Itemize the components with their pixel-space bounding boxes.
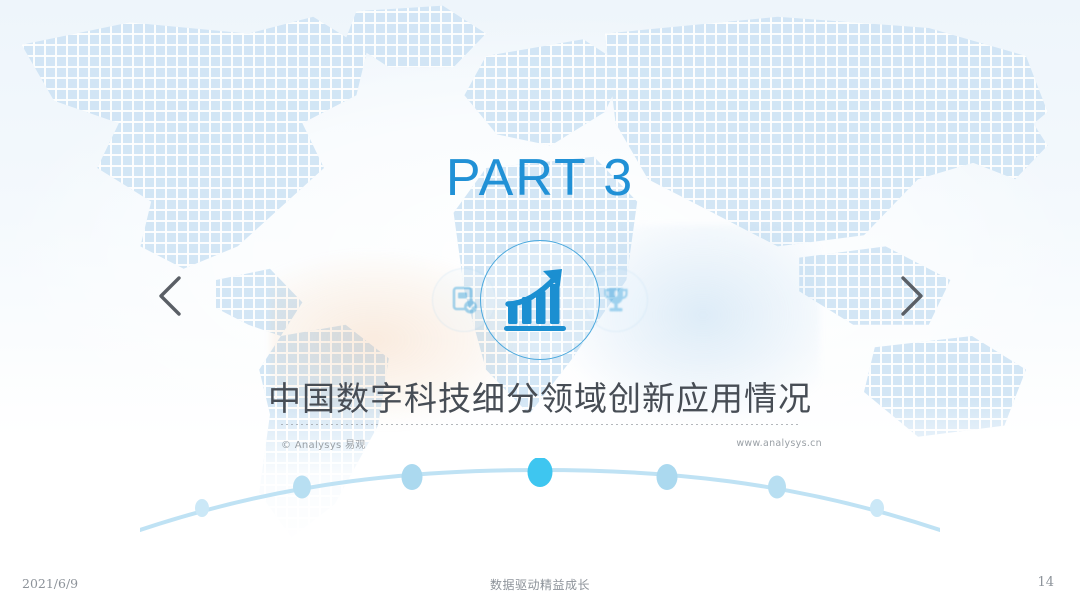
progress-dot-arc[interactable] [140, 458, 940, 538]
footer-page-number: 14 [1037, 575, 1054, 590]
website-link: www.analysys.cn [736, 438, 822, 449]
icon-cluster [0, 232, 1080, 368]
page-title: 中国数字科技细分领域创新应用情况 [0, 372, 1080, 420]
title-divider [281, 424, 799, 425]
part-label: PART 3 [0, 148, 1080, 208]
bar-chart-growth-icon [480, 240, 600, 360]
footer-slogan: 数据驱动精益成长 [0, 576, 1080, 593]
copyright-credit: © Analysys 易观 [281, 436, 366, 451]
slide-canvas: PART 3 [0, 0, 1080, 608]
